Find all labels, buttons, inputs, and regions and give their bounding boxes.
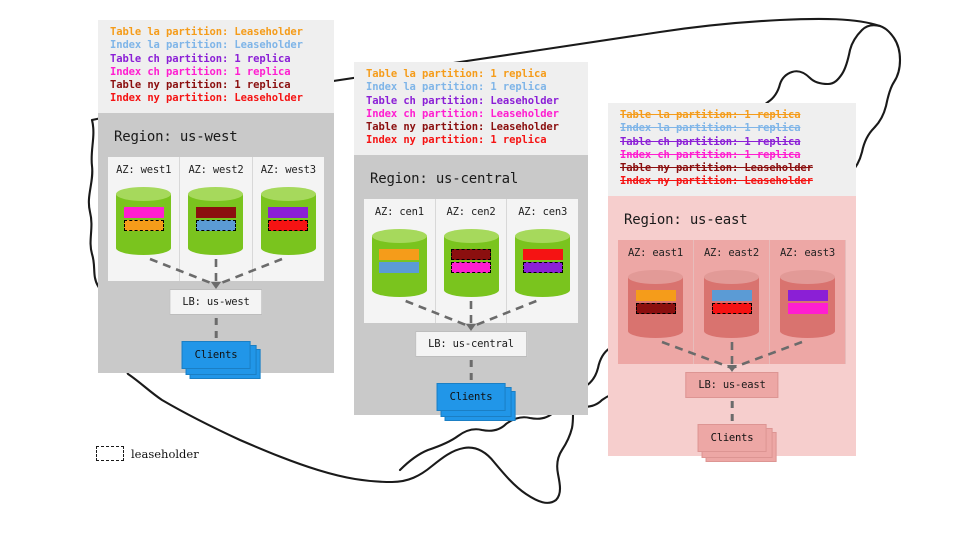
- connector-line: [150, 259, 216, 285]
- az-label: AZ: cen3: [507, 206, 578, 218]
- connector-line: [406, 301, 471, 327]
- load-balancer-us-central[interactable]: LB: us-central: [415, 331, 527, 357]
- replica-bar-index-ch-replica: [788, 303, 828, 314]
- replica-bars: [261, 207, 316, 233]
- replica-bar-table-ny-leaseholder: [636, 303, 676, 314]
- connector-arrowhead: [211, 282, 221, 289]
- replica-bars: [780, 290, 835, 316]
- leaseholder-key-label: leaseholder: [131, 447, 199, 461]
- region-body-us-central: Region: us-centralAZ: cen1AZ: cen2AZ: ce…: [354, 155, 588, 415]
- partition-line: Table la partition: Leaseholder: [110, 26, 326, 39]
- replica-bar-table-la-replica: [636, 290, 676, 301]
- partition-line: Index ny partition: 1 replica: [366, 134, 580, 147]
- replica-bars: [704, 290, 759, 316]
- replica-bar-index-ch-leaseholder: [451, 262, 491, 273]
- az-label: AZ: west3: [253, 164, 324, 176]
- replica-bar-table-ny-replica: [196, 207, 236, 218]
- cylinder-top: [116, 187, 171, 201]
- partition-line: Table ny partition: Leaseholder: [620, 162, 848, 175]
- database-node-cylinder[interactable]: [444, 229, 499, 297]
- database-node-cylinder[interactable]: [261, 187, 316, 255]
- connector-line: [662, 342, 732, 368]
- partition-line: Index la partition: Leaseholder: [110, 39, 326, 52]
- replica-bar-table-ny-leaseholder: [451, 249, 491, 260]
- replica-bars: [628, 290, 683, 316]
- database-node-cylinder[interactable]: [628, 270, 683, 338]
- database-node-cylinder[interactable]: [188, 187, 243, 255]
- partition-legend-us-west: Table la partition: LeaseholderIndex la …: [98, 20, 334, 113]
- replica-bar-index-ch-replica: [124, 207, 164, 218]
- replica-bar-index-ny-replica: [523, 249, 563, 260]
- database-node-cylinder[interactable]: [780, 270, 835, 338]
- cylinder-top: [780, 270, 835, 284]
- load-balancer-us-west[interactable]: LB: us-west: [169, 289, 262, 315]
- partition-line: Table ny partition: Leaseholder: [366, 121, 580, 134]
- region-panel-us-west: Table la partition: LeaseholderIndex la …: [98, 20, 334, 373]
- replica-bars: [188, 207, 243, 233]
- replica-bar-index-ny-leaseholder: [268, 220, 308, 231]
- database-node-cylinder[interactable]: [116, 187, 171, 255]
- clients-stack-us-central[interactable]: Clients: [437, 383, 506, 411]
- database-node-cylinder[interactable]: [704, 270, 759, 338]
- partition-line: Table ny partition: 1 replica: [110, 79, 326, 92]
- connector-arrowhead: [466, 324, 476, 331]
- partition-line: Index la partition: 1 replica: [620, 122, 848, 135]
- replica-bar-table-ch-replica: [268, 207, 308, 218]
- leaseholder-key-swatch: [96, 446, 124, 461]
- replica-bar-table-la-leaseholder: [124, 220, 164, 231]
- cylinder-top: [372, 229, 427, 243]
- clients-stack-us-east[interactable]: Clients: [698, 424, 767, 452]
- replica-bar-index-la-leaseholder: [196, 220, 236, 231]
- partition-line: Table ch partition: 1 replica: [620, 136, 848, 149]
- region-title-us-central: Region: us-central: [370, 171, 578, 187]
- region-body-us-west: Region: us-westAZ: west1AZ: west2AZ: wes…: [98, 113, 334, 373]
- clients-label: Clients: [437, 383, 506, 411]
- partition-line: Index ch partition: 1 replica: [110, 66, 326, 79]
- az-label: AZ: east3: [770, 247, 845, 259]
- replica-bars: [372, 249, 427, 275]
- replica-bar-index-la-replica: [379, 262, 419, 273]
- partition-line: Index la partition: 1 replica: [366, 81, 580, 94]
- region-panel-us-central: Table la partition: 1 replicaIndex la pa…: [354, 62, 588, 415]
- az-label: AZ: cen1: [364, 206, 435, 218]
- az-label: AZ: west1: [108, 164, 179, 176]
- cylinder-top: [704, 270, 759, 284]
- partition-line: Table la partition: 1 replica: [366, 68, 580, 81]
- region-panel-us-east: Table la partition: 1 replicaIndex la pa…: [608, 103, 856, 456]
- replica-bars: [515, 249, 570, 275]
- clients-stack-us-west[interactable]: Clients: [182, 341, 251, 369]
- cylinder-top: [188, 187, 243, 201]
- partition-line: Index ch partition: Leaseholder: [366, 108, 580, 121]
- clients-label: Clients: [182, 341, 251, 369]
- replica-bar-index-la-replica: [712, 290, 752, 301]
- connector-line: [216, 259, 282, 285]
- partition-line: Index ny partition: Leaseholder: [620, 175, 848, 188]
- partition-legend-us-east: Table la partition: 1 replicaIndex la pa…: [608, 103, 856, 196]
- replica-bar-table-ch-replica: [788, 290, 828, 301]
- replica-bar-index-ny-leaseholder: [712, 303, 752, 314]
- replica-bar-table-la-replica: [379, 249, 419, 260]
- partition-legend-us-central: Table la partition: 1 replicaIndex la pa…: [354, 62, 588, 155]
- az-label: AZ: cen2: [436, 206, 507, 218]
- clients-label: Clients: [698, 424, 767, 452]
- partition-line: Table la partition: 1 replica: [620, 109, 848, 122]
- leaseholder-key-legend: leaseholder: [96, 446, 199, 461]
- cylinder-top: [261, 187, 316, 201]
- partition-line: Index ny partition: Leaseholder: [110, 92, 326, 105]
- load-balancer-us-east[interactable]: LB: us-east: [685, 372, 778, 398]
- database-node-cylinder[interactable]: [515, 229, 570, 297]
- replica-bar-table-ch-leaseholder: [523, 262, 563, 273]
- replica-bars: [444, 249, 499, 275]
- partition-line: Table ch partition: Leaseholder: [366, 95, 580, 108]
- lb-to-clients-connector: [215, 318, 218, 340]
- region-title-us-east: Region: us-east: [624, 212, 846, 228]
- lb-to-clients-connector: [731, 401, 734, 423]
- database-node-cylinder[interactable]: [372, 229, 427, 297]
- replica-bars: [116, 207, 171, 233]
- partition-line: Table ch partition: 1 replica: [110, 53, 326, 66]
- region-title-us-west: Region: us-west: [114, 129, 324, 145]
- az-label: AZ: east1: [618, 247, 693, 259]
- connector-line: [732, 342, 802, 368]
- partition-line: Index ch partition: 1 replica: [620, 149, 848, 162]
- connector-line: [471, 301, 536, 327]
- region-body-us-east: Region: us-eastAZ: east1AZ: east2AZ: eas…: [608, 196, 856, 456]
- lb-to-clients-connector: [470, 360, 473, 382]
- cylinder-top: [628, 270, 683, 284]
- cylinder-top: [515, 229, 570, 243]
- az-label: AZ: west2: [180, 164, 251, 176]
- connector-arrowhead: [727, 365, 737, 372]
- cylinder-top: [444, 229, 499, 243]
- az-label: AZ: east2: [694, 247, 769, 259]
